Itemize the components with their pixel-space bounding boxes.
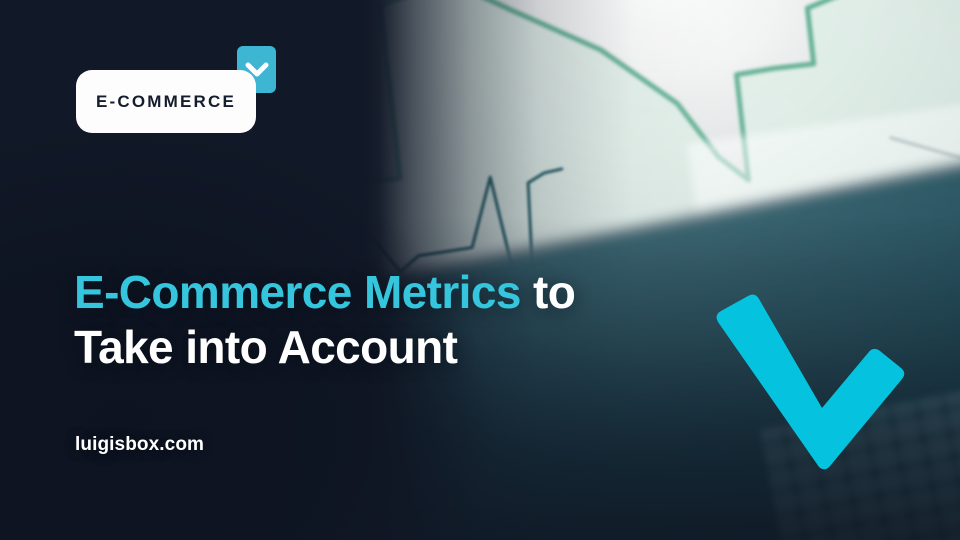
badge-pill: E-COMMERCE bbox=[76, 70, 256, 133]
slide-canvas: E-COMMERCE E-Commerce Metrics to Take in… bbox=[0, 0, 960, 540]
page-title-line1-rest: to bbox=[521, 266, 575, 318]
badge-label: E-COMMERCE bbox=[96, 93, 236, 110]
checkmark-icon bbox=[690, 290, 905, 475]
page-title: E-Commerce Metrics to Take into Account bbox=[74, 265, 674, 375]
page-title-accent: E-Commerce Metrics bbox=[74, 266, 521, 318]
site-url: luigisbox.com bbox=[75, 434, 204, 456]
ecommerce-badge: E-COMMERCE bbox=[76, 46, 276, 134]
page-title-line2: Take into Account bbox=[74, 321, 457, 373]
